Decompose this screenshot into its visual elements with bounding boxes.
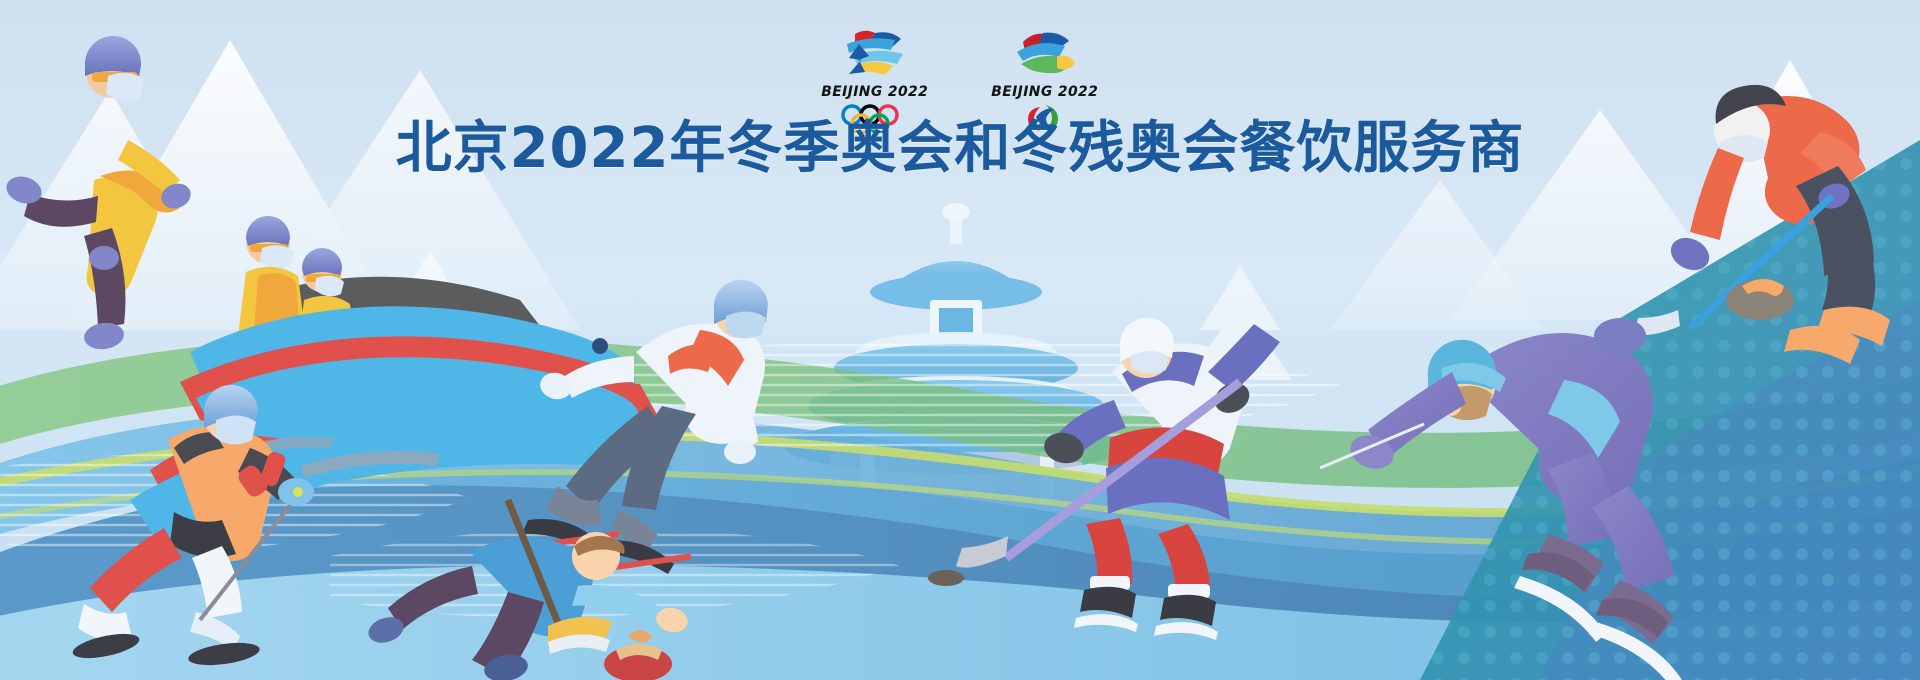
page-title: 北京2022年冬季奥会和冬残奥会餐饮服务商 — [396, 120, 1525, 179]
olympic-wordmark: BEIJING 2022 — [822, 84, 929, 100]
paralympic-wordmark: BEIJING 2022 — [992, 84, 1099, 100]
olympics-catering-banner: BEIJING 2022 BEIJING 2022 — [0, 0, 1920, 680]
athlete-speed-skater-right — [1320, 333, 1682, 680]
flying-high-mark-icon — [999, 24, 1091, 82]
athlete-ice-hockey — [928, 318, 1280, 640]
winter-dream-mark-icon — [829, 24, 921, 82]
headline-block: 北京2022年冬季奥会和冬残奥会餐饮服务商 — [0, 120, 1920, 179]
